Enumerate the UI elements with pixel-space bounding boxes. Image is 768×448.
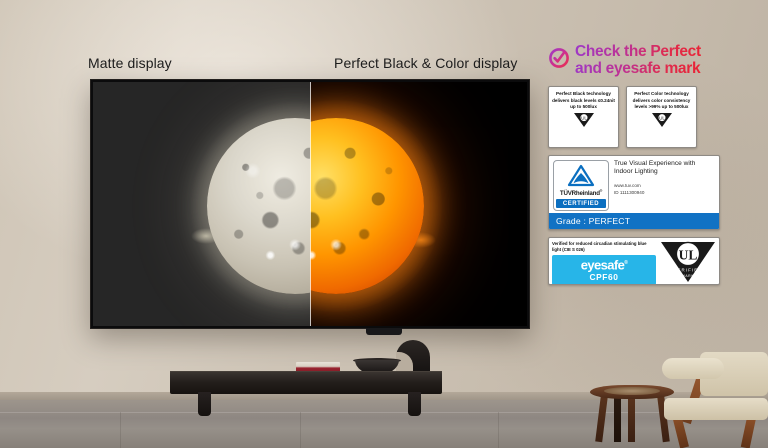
promo-headline-text: Check the Perfect and eyesafe mark bbox=[575, 44, 701, 77]
perfect-black-text: Perfect Black technology delivers black … bbox=[552, 91, 615, 111]
tuv-logo-box: TÜVRheinland® CERTIFIED bbox=[553, 160, 609, 211]
tuv-website: www.tuv.com bbox=[614, 183, 715, 189]
certification-panel: Check the Perfect and eyesafe mark Perfe… bbox=[548, 44, 720, 285]
side-table-leg bbox=[628, 396, 635, 442]
tuv-id: ID 1111300940 bbox=[614, 190, 715, 196]
eyesafe-brand: eyesafe® bbox=[552, 257, 656, 271]
tile-seam bbox=[300, 412, 301, 448]
perfect-color-card: Perfect Color technology delivers color … bbox=[626, 86, 697, 148]
trademark-mark: ® bbox=[624, 260, 627, 266]
television bbox=[90, 79, 530, 329]
side-table-inlay bbox=[604, 387, 660, 395]
registered-mark: ® bbox=[600, 189, 602, 193]
tile-seam bbox=[498, 412, 499, 448]
ul-verified-seal-icon: UL bbox=[651, 112, 673, 133]
armchair-armrest bbox=[662, 358, 724, 379]
perfect-color-text: Perfect Color technology delivers color … bbox=[630, 91, 693, 111]
tuv-certified-badge: CERTIFIED bbox=[556, 199, 606, 208]
svg-text:VERIFIED: VERIFIED bbox=[673, 268, 702, 273]
tuv-brand-text: TÜVRheinland bbox=[560, 190, 600, 197]
eyesafe-logo: eyesafe® CPF60 bbox=[552, 255, 656, 284]
perfect-black-card: Perfect Black technology delivers black … bbox=[548, 86, 619, 148]
tuv-card-body: TÜVRheinland® CERTIFIED True Visual Expe… bbox=[549, 156, 719, 213]
svg-text:UL: UL bbox=[679, 248, 698, 263]
headline-line-2: and eyesafe mark bbox=[575, 61, 701, 78]
eyesafe-note-text: Verified for reduced circadian stimulati… bbox=[552, 241, 656, 252]
tv-stand-foot bbox=[366, 328, 402, 335]
perfect-display-label: Perfect Black & Color display bbox=[334, 55, 517, 71]
ul-verified-mark-icon: UL VERIFIED MARK bbox=[659, 240, 717, 285]
sun-right-half bbox=[310, 82, 527, 326]
tuv-brand-name: TÜVRheinland® bbox=[560, 189, 602, 197]
armchair-seat bbox=[664, 398, 768, 420]
console-leg bbox=[198, 392, 211, 416]
svg-text:UL: UL bbox=[659, 115, 665, 120]
eyesafe-brand-text: eyesafe bbox=[581, 258, 625, 273]
console-table bbox=[170, 372, 442, 394]
tuv-rheinland-card: TÜVRheinland® CERTIFIED True Visual Expe… bbox=[548, 155, 720, 230]
technology-cards: Perfect Black technology delivers black … bbox=[548, 86, 720, 148]
eyesafe-card: Verified for reduced circadian stimulati… bbox=[548, 237, 720, 285]
side-table-leg bbox=[614, 396, 621, 442]
headline-line-1: Check the Perfect bbox=[575, 44, 701, 61]
tile-seam bbox=[120, 412, 121, 448]
tv-screen bbox=[93, 82, 527, 326]
promo-headline: Check the Perfect and eyesafe mark bbox=[548, 44, 720, 77]
tuv-claim-text: True Visual Experience with Indoor Light… bbox=[614, 160, 715, 177]
svg-text:MARK: MARK bbox=[682, 274, 694, 278]
matte-display-label: Matte display bbox=[88, 55, 172, 71]
comparison-divider bbox=[310, 82, 311, 326]
floor-seam bbox=[0, 412, 768, 413]
sun-left-half bbox=[93, 82, 310, 326]
floor bbox=[0, 400, 768, 448]
svg-text:UL: UL bbox=[581, 115, 587, 120]
tuv-triangle-icon bbox=[566, 164, 596, 188]
tuv-details: True Visual Experience with Indoor Light… bbox=[614, 160, 715, 211]
eyesafe-certification: CPF60 bbox=[552, 272, 656, 282]
console-leg bbox=[408, 392, 421, 416]
ul-verified-seal-icon: UL bbox=[573, 112, 595, 133]
tuv-grade-bar: Grade : PERFECT bbox=[549, 213, 719, 229]
tuv-mark: TÜVRheinland® CERTIFIED bbox=[553, 160, 609, 211]
check-circle-icon bbox=[548, 47, 570, 74]
